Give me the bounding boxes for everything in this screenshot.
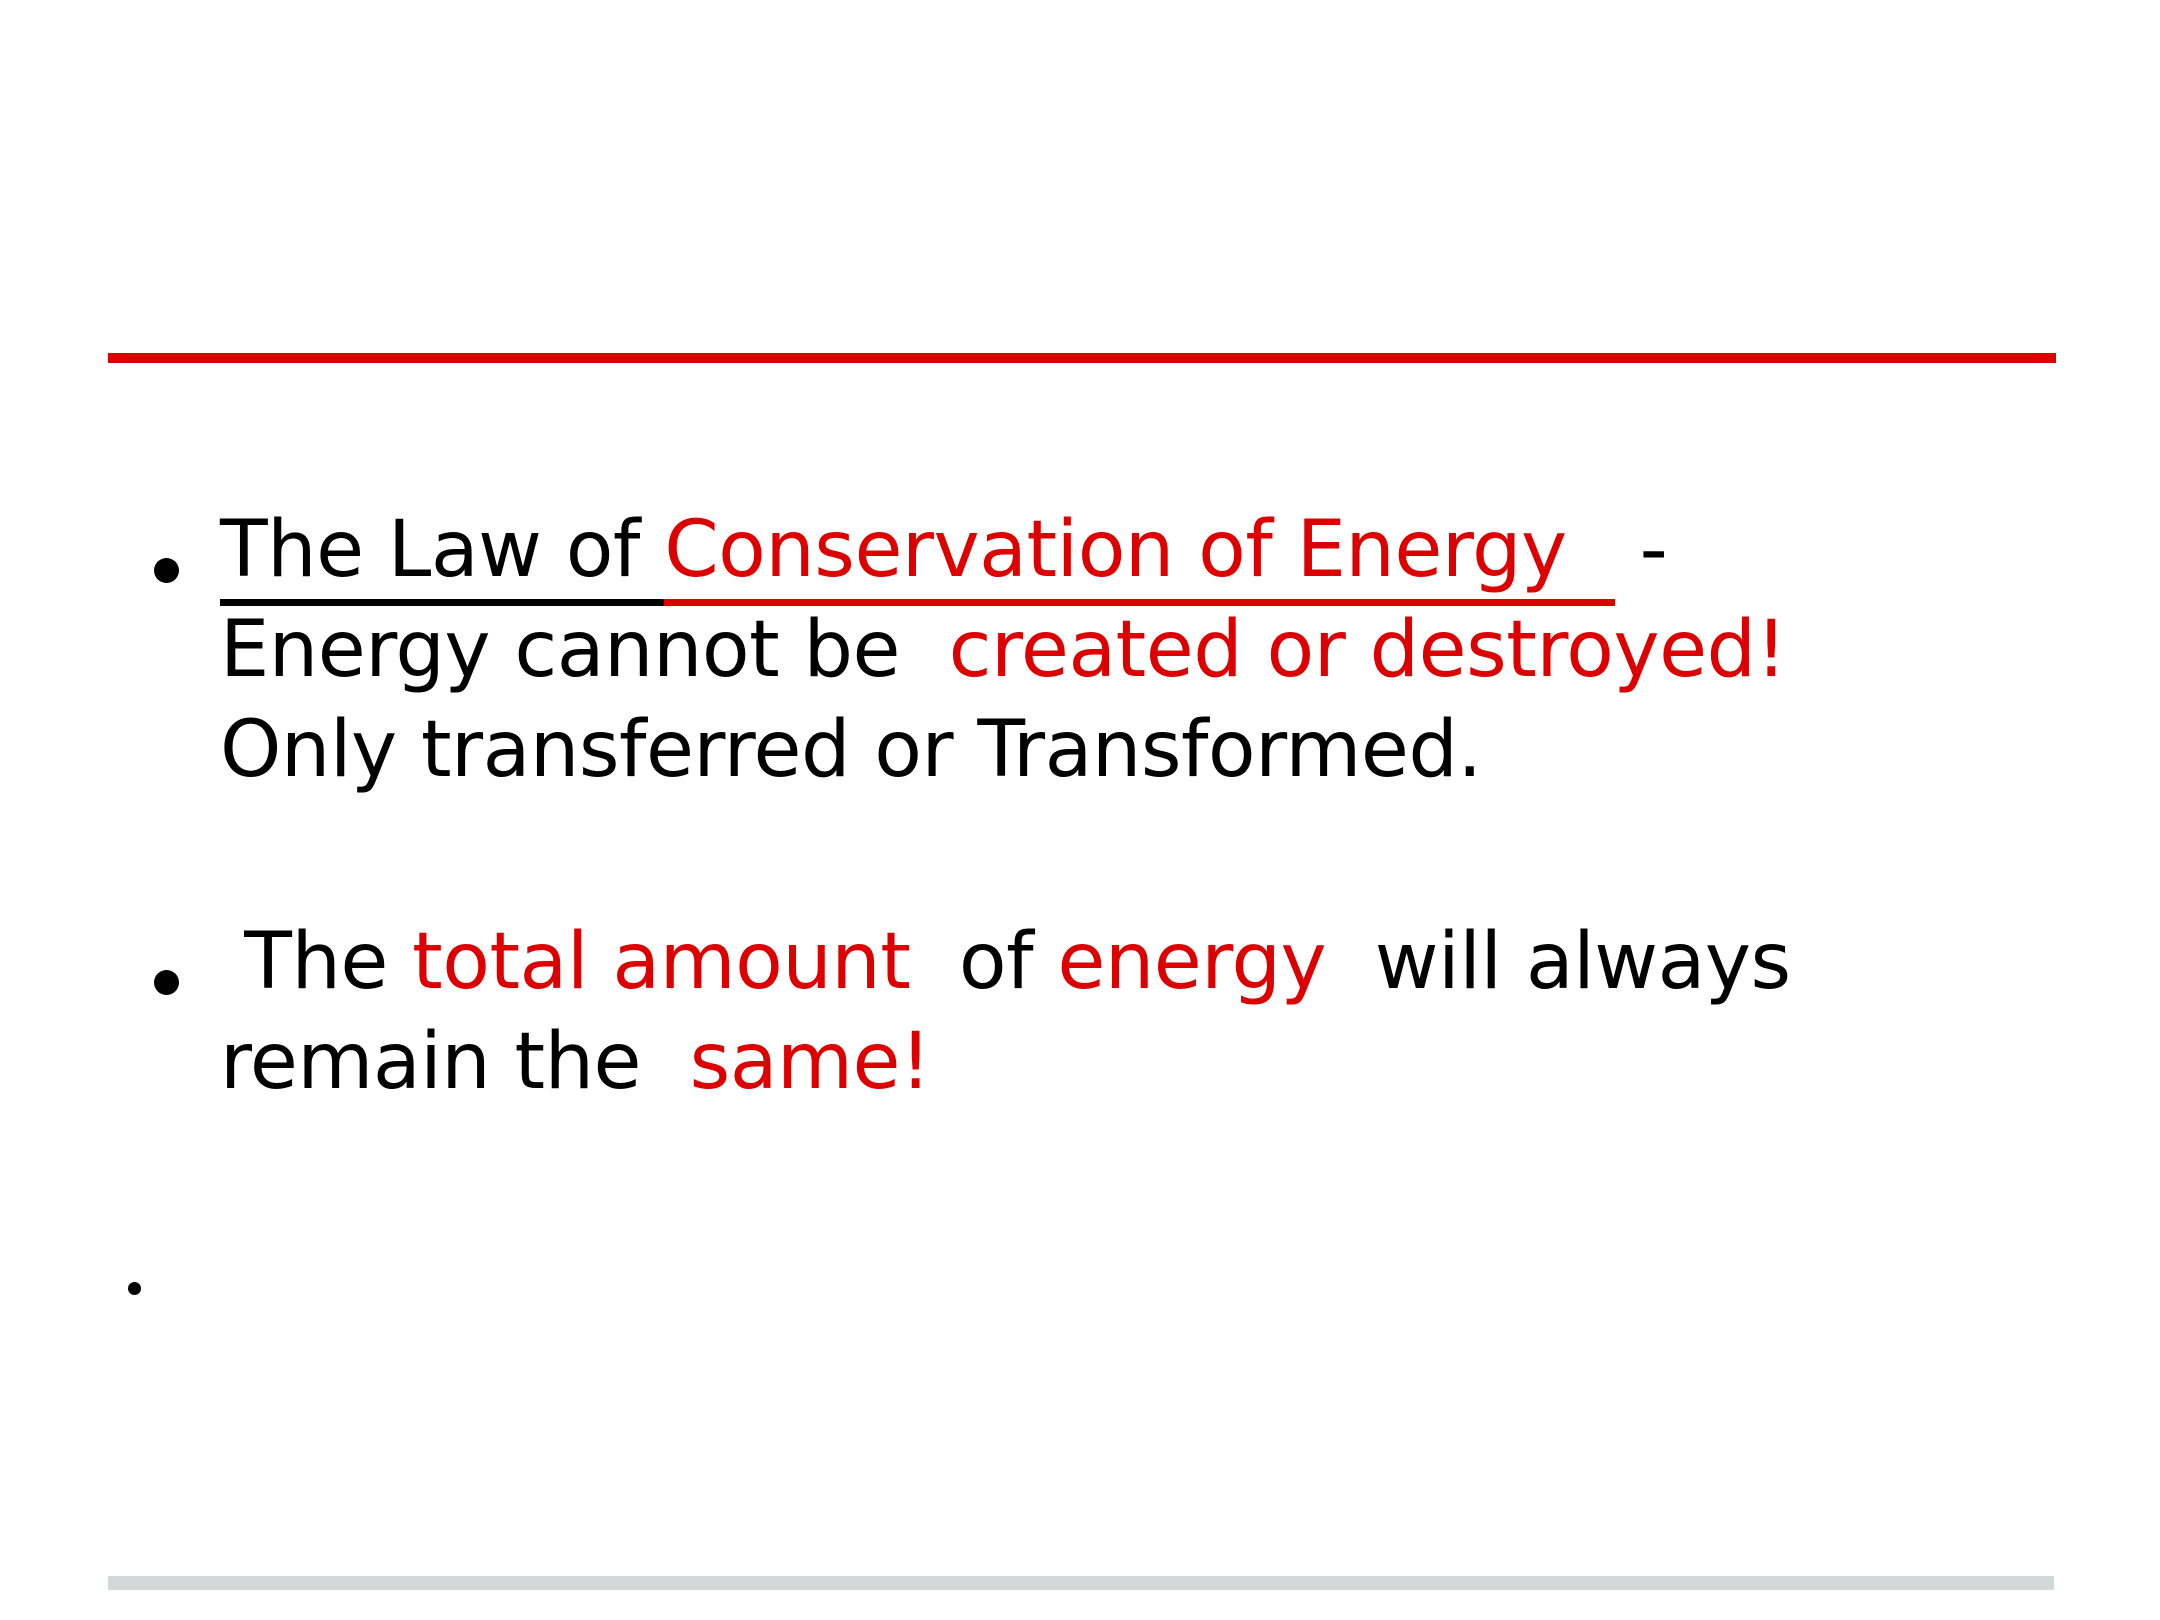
trailing-period-mark [128, 1282, 141, 1295]
bullet-1-line-1-seg-3: - [1615, 505, 1667, 595]
bullet-1-line-2: Energy cannot be created or destroyed! [220, 600, 2068, 700]
slide-body: The Law of Conservation of Energy - Ener… [108, 500, 2068, 1112]
bullet-2-line-2: remain the same! [220, 1012, 2068, 1112]
bullet-1-line-3: Only transferred or Transformed. [220, 700, 2068, 800]
bullet-2-line-2-seg-1: remain the [220, 1017, 690, 1107]
bullet-2-line-1-seg-3: of [910, 917, 1057, 1007]
bullet-2-line-1-seg-1: The [220, 917, 412, 1007]
top-accent-rule [108, 353, 2056, 363]
bullet-1-line-1: The Law of Conservation of Energy - [220, 500, 2068, 600]
bullet-dot-icon [154, 970, 179, 995]
bullet-2-line-2-seg-2: same! [690, 1017, 931, 1107]
bullet-item-1: The Law of Conservation of Energy - Ener… [108, 500, 2068, 800]
bullet-spacer [108, 800, 2068, 912]
bullet-1-line-1-seg-2: Conservation of Energy [664, 505, 1615, 606]
bullet-1-line-2-seg-1: Energy cannot be [220, 605, 949, 695]
bullet-1-line-3-seg-1: Only transferred or Transformed. [220, 705, 1482, 795]
bullet-item-2: The total amount of energy will always r… [108, 912, 2068, 1112]
bullet-2-line-1: The total amount of energy will always [220, 912, 2068, 1012]
bullet-2-line-1-seg-2: total amount [412, 917, 910, 1007]
slide-canvas: The Law of Conservation of Energy - Ener… [0, 0, 2160, 1620]
bullet-2-line-1-seg-5: will always [1326, 917, 1791, 1007]
bullet-2-line-1-seg-4: energy [1057, 917, 1326, 1007]
bottom-footer-rule [108, 1576, 2054, 1590]
bullet-1-line-1-seg-1: The Law of [220, 505, 664, 606]
bullet-1-line-2-seg-2: created or destroyed! [949, 605, 1787, 695]
bullet-dot-icon [154, 558, 179, 583]
